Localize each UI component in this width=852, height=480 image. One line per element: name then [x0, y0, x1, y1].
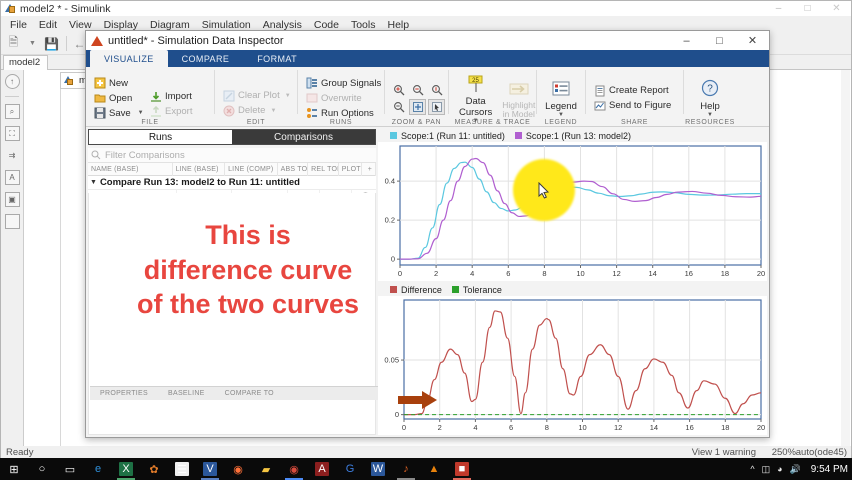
filter-placeholder: Filter Comparisons: [105, 150, 185, 161]
create-report-icon: [594, 85, 606, 97]
excel-icon[interactable]: X: [112, 458, 140, 480]
plot-legend-top: Scope:1 (Run 11: untitled) Scope:1 (Run …: [378, 129, 767, 142]
group-signals-icon: [306, 77, 318, 89]
search-icon: [91, 150, 101, 160]
svg-text:18: 18: [721, 269, 729, 278]
legend-icon: [550, 78, 572, 100]
ribbon-group-label-runs: RUNS: [298, 119, 384, 126]
annotation-text-icon[interactable]: A: [5, 170, 20, 185]
vlc-icon-glyph: ▲: [427, 462, 441, 476]
wifi-icon[interactable]: ◕: [777, 464, 782, 474]
taskbar-clock[interactable]: 9:54 PM: [811, 464, 848, 475]
svg-text:0.4: 0.4: [385, 177, 395, 186]
pan-cursor-icon[interactable]: [428, 99, 445, 115]
ribbon-highlight-in-model-button: Highlightin Model: [497, 78, 540, 119]
edge-icon-glyph: e: [91, 462, 105, 476]
cortana-search-icon[interactable]: ○: [28, 458, 56, 480]
difference-plot-bottom: Difference Tolerance 0246810121416182000…: [378, 283, 767, 435]
sdi-maximize-button[interactable]: □: [703, 31, 736, 50]
column-header-rel-tol[interactable]: REL TOL: [308, 163, 339, 176]
box-icon[interactable]: [5, 214, 20, 229]
app-red-icon-glyph: ■: [455, 462, 469, 476]
save-icon[interactable]: 💾: [43, 35, 60, 52]
excel-icon-glyph: X: [119, 462, 133, 476]
svg-text:4: 4: [470, 269, 474, 278]
firefox-icon[interactable]: ◉: [224, 458, 252, 480]
ribbon-open-label: Open: [109, 93, 132, 104]
firefox-icon-glyph: ◉: [231, 462, 245, 476]
svg-text:6: 6: [506, 269, 510, 278]
adobe-reader-icon[interactable]: A: [308, 458, 336, 480]
column-header-abs-tol[interactable]: ABS TOL: [278, 163, 309, 176]
svg-text:8: 8: [545, 423, 549, 432]
sdi-ribbon-tabs: VISUALIZECOMPAREFORMAT: [86, 50, 769, 67]
legend-color-swatch: [515, 132, 522, 139]
legend-entry-run11[interactable]: Scope:1 (Run 11: untitled): [390, 131, 505, 141]
zoom-out-icon[interactable]: [390, 99, 407, 115]
ribbon-open-button[interactable]: Open: [91, 91, 147, 106]
windows-taskbar: ⊞○▭eX✿☰V◉▰◉AGW♪▲■ ^ ◫ ◕ 🔊 9:54 PM: [0, 458, 852, 480]
simulink-window-controls: – □ ✕: [764, 1, 851, 16]
status-warning-link[interactable]: View 1 warning: [692, 447, 756, 458]
svg-text:18: 18: [721, 423, 729, 432]
zoom-x-icon[interactable]: [409, 82, 426, 98]
toggle-runs[interactable]: Runs: [89, 130, 232, 144]
ribbon-export-label: Export: [165, 106, 192, 117]
overwrite-icon: [306, 92, 318, 104]
export-arrow-icon: [150, 106, 162, 118]
svg-text:6: 6: [509, 423, 513, 432]
ribbon-group-label-measure: MEASURE & TRACE: [449, 119, 536, 126]
google-drive-icon-glyph: G: [343, 462, 357, 476]
area-icon[interactable]: ▣: [5, 192, 20, 207]
navigate-up-icon[interactable]: ↑: [5, 74, 20, 89]
task-view-icon[interactable]: ▭: [56, 458, 84, 480]
word-icon[interactable]: W: [364, 458, 392, 480]
matlab-icon[interactable]: ♪: [392, 458, 420, 480]
toolbar-divider: [66, 36, 67, 51]
svg-text:4: 4: [473, 423, 477, 432]
ribbon-new-button[interactable]: New: [91, 76, 147, 91]
axes-top[interactable]: 0246810121416182000.20.4: [378, 142, 767, 281]
word-icon-glyph: W: [371, 462, 385, 476]
ribbon-data-cursors-button[interactable]: 25 Data Cursors ▼: [454, 73, 497, 124]
legend-color-swatch: [390, 132, 397, 139]
tab-visualize[interactable]: VISUALIZE: [90, 50, 168, 67]
ribbon-group-zoom-pan: ZOOM & PAN: [385, 67, 448, 127]
google-drive-icon[interactable]: G: [336, 458, 364, 480]
start-button[interactable]: ⊞: [0, 458, 28, 480]
ribbon-group-legend: Legend ▼ LEGEND: [537, 67, 585, 127]
tab-compare[interactable]: COMPARE: [168, 50, 244, 67]
simulink-titlebar: model2 * - Simulink – □ ✕: [1, 1, 851, 16]
chevron-down-icon[interactable]: ▼: [138, 110, 144, 116]
menu-item-file[interactable]: File: [4, 18, 33, 32]
edge-icon[interactable]: e: [84, 458, 112, 480]
ribbon-group-signals-label: Group Signals: [321, 78, 381, 89]
maximize-button[interactable]: □: [793, 1, 822, 16]
toggle-comparisons[interactable]: Comparisons: [232, 130, 375, 144]
tab-baseline[interactable]: BASELINE: [158, 390, 215, 397]
system-tray: ^ ◫ ◕ 🔊 9:54 PM: [750, 458, 848, 480]
ribbon-delete-label: Delete: [238, 105, 265, 116]
ribbon-group-label-share: SHARE: [586, 119, 683, 126]
minimize-button[interactable]: –: [764, 1, 793, 16]
svg-text:8: 8: [542, 269, 546, 278]
legend-label-run13: Scope:1 (Run 13: model2): [526, 131, 631, 141]
photoshop-icon-glyph: ✿: [147, 462, 161, 476]
import-arrow-icon: [150, 91, 162, 103]
battery-icon[interactable]: ◫: [762, 464, 771, 475]
simulink-locked-model-icon: [5, 3, 16, 14]
chrome-icon[interactable]: ◉: [280, 458, 308, 480]
comparison-plot-top: Scope:1 (Run 11: untitled) Scope:1 (Run …: [378, 129, 767, 281]
ribbon-data-cursors-label: Data Cursors: [459, 96, 492, 118]
properties-tabstrip: PROPERTIES BASELINE COMPARE TO: [90, 386, 378, 400]
tab-properties[interactable]: PROPERTIES: [90, 390, 158, 397]
legend-entry-difference[interactable]: Difference: [390, 285, 442, 295]
photoshop-icon[interactable]: ✿: [140, 458, 168, 480]
legend-entry-tolerance[interactable]: Tolerance: [452, 285, 502, 295]
legend-color-swatch: [390, 286, 397, 293]
chevron-down-icon: ▼: [270, 108, 276, 114]
ribbon-clear-plot-button: Clear Plot ▼: [220, 88, 292, 103]
ribbon-group-measure-trace: 25 Data Cursors ▼ Highlightin Model MEAS…: [449, 67, 536, 127]
comparison-group-row[interactable]: ▼ Compare Run 13: model2 to Run 11: unti…: [88, 176, 376, 190]
close-button[interactable]: ✕: [822, 1, 851, 16]
volume-icon[interactable]: 🔊: [790, 464, 801, 475]
ribbon-group-runs: Group Signals Overwrite Run Options: [298, 67, 384, 127]
tray-expand-icon[interactable]: ^: [750, 464, 754, 474]
svg-text:0: 0: [398, 269, 402, 278]
delete-icon: [223, 105, 235, 117]
sdi-window-controls: – □ ✕: [670, 31, 769, 50]
fit-to-view-icon[interactable]: [409, 99, 426, 115]
matlab-icon: [91, 35, 103, 47]
ribbon-group-share: Create Report Send to Figure SHARE: [586, 67, 683, 127]
column-header-line-base[interactable]: LINE (BASE): [173, 163, 226, 176]
svg-text:0: 0: [391, 255, 395, 264]
file-explorer-icon-glyph: ▰: [259, 462, 273, 476]
matlab-icon-glyph: ♪: [399, 462, 413, 476]
ribbon-legend-button[interactable]: Legend ▼: [540, 78, 582, 118]
taskbar-items: ⊞○▭eX✿☰V◉▰◉AGW♪▲■: [0, 458, 476, 480]
fit-to-view-icon[interactable]: ⛶: [5, 126, 20, 141]
runs-comparisons-toggle: Runs Comparisons: [88, 129, 376, 145]
plus-icon[interactable]: +: [362, 163, 376, 176]
tab-compare-to[interactable]: COMPARE TO: [215, 390, 284, 397]
zoom-tool-icon[interactable]: ⌕: [5, 104, 20, 119]
comparisons-table-header: NAME (BASE) LINE (BASE) LINE (COMP) ABS …: [88, 163, 376, 176]
status-zoom-level: 250%: [772, 447, 796, 458]
svg-text:10: 10: [576, 269, 584, 278]
ribbon-group-label-edit: EDIT: [215, 119, 297, 126]
sdi-title: untitled* - Simulation Data Inspector: [108, 35, 283, 47]
ribbon-group-label-zoom-pan: ZOOM & PAN: [385, 119, 448, 126]
svg-text:14: 14: [649, 269, 657, 278]
status-solver: auto(ode45): [796, 447, 847, 458]
svg-text:0.2: 0.2: [385, 216, 395, 225]
data-cursor-icon: 25: [465, 73, 487, 95]
model-tab-model2[interactable]: model2: [3, 55, 48, 70]
ribbon-clear-plot-label: Clear Plot: [238, 90, 280, 101]
ribbon-group-edit: Clear Plot ▼ Delete ▼ EDIT: [215, 67, 297, 127]
new-model-icon[interactable]: 🗎: [5, 35, 22, 52]
sdi-ribbon: New Open Save ▼: [86, 67, 769, 127]
axes-bottom[interactable]: 0246810121416182000.05: [378, 296, 767, 435]
save-disk-icon: [94, 107, 106, 119]
simulink-left-toolrail: ↑ ⌕ ⛶ ⇉ A ▣: [1, 70, 23, 446]
legend-color-swatch: [452, 286, 459, 293]
chevron-down-icon: ▼: [285, 93, 291, 99]
ribbon-group-resources: ? Help ▼ RESOURCES: [684, 67, 736, 127]
svg-text:16: 16: [685, 423, 693, 432]
ribbon-group-label-resources: RESOURCES: [684, 119, 736, 126]
new-plus-icon: [94, 77, 106, 89]
svg-text:16: 16: [685, 269, 693, 278]
cortana-search-icon-glyph: ○: [35, 462, 49, 476]
ribbon-group-label-file: FILE: [86, 119, 214, 126]
ribbon-create-report-label: Create Report: [609, 85, 669, 96]
ribbon-save-label: Save: [109, 108, 131, 119]
ribbon-overwrite-button: Overwrite: [303, 91, 379, 106]
legend-entry-run13[interactable]: Scope:1 (Run 13: model2): [515, 131, 631, 141]
simulink-title: model2 * - Simulink: [20, 3, 110, 15]
ribbon-send-to-figure-button[interactable]: Send to Figure: [591, 98, 678, 113]
highlight-in-model-icon: [508, 78, 530, 100]
visio-icon-glyph: V: [203, 462, 217, 476]
svg-text:2: 2: [434, 269, 438, 278]
start-button-glyph: ⊞: [7, 462, 21, 476]
svg-text:12: 12: [612, 269, 620, 278]
task-view-icon-glyph: ▭: [63, 462, 77, 476]
ribbon-group-label-legend: LEGEND: [537, 119, 585, 126]
run-options-icon: [306, 107, 318, 119]
sdi-minimize-button[interactable]: –: [670, 31, 703, 50]
ribbon-import-button[interactable]: Import: [147, 89, 209, 104]
sdi-body: Runs Comparisons Filter Comparisons NAME…: [86, 127, 769, 437]
legend-label-run11: Scope:1 (Run 11: untitled): [401, 131, 505, 141]
ribbon-help-label: Help: [700, 101, 720, 112]
signal-routing-icon[interactable]: ⇉: [5, 148, 20, 163]
svg-text:0.05: 0.05: [384, 356, 399, 365]
ribbon-legend-label: Legend: [545, 101, 577, 112]
chevron-down-icon[interactable]: ▼: [558, 112, 564, 118]
ribbon-delete-button: Delete ▼: [220, 103, 292, 118]
svg-text:?: ?: [707, 84, 713, 95]
folder-open-icon: [94, 92, 106, 104]
chrome-icon-glyph: ◉: [287, 462, 301, 476]
status-ready: Ready: [6, 447, 33, 458]
notepad-icon-glyph: ☰: [175, 462, 189, 476]
clear-plot-icon: [223, 90, 235, 102]
chevron-down-icon[interactable]: ▼: [90, 179, 97, 186]
sdi-close-button[interactable]: ✕: [736, 31, 769, 50]
rail-divider: [5, 96, 19, 97]
canvas-splitter: [60, 89, 61, 446]
plot-legend-bottom: Difference Tolerance: [378, 283, 767, 296]
ribbon-help-button[interactable]: ? Help ▼: [694, 78, 726, 118]
svg-text:20: 20: [757, 423, 765, 432]
ribbon-group-signals-button[interactable]: Group Signals: [303, 76, 379, 91]
svg-text:2: 2: [438, 423, 442, 432]
tab-format[interactable]: FORMAT: [243, 50, 311, 67]
file-explorer-icon[interactable]: ▰: [252, 458, 280, 480]
adobe-reader-icon-glyph: A: [315, 462, 329, 476]
vlc-icon[interactable]: ▲: [420, 458, 448, 480]
sdi-titlebar: untitled* - Simulation Data Inspector – …: [86, 31, 769, 50]
axes-top-svg: 0246810121416182000.20.4: [378, 142, 767, 281]
column-header-plot[interactable]: PLOT: [339, 163, 362, 176]
ribbon-overwrite-label: Overwrite: [321, 93, 362, 104]
svg-text:0: 0: [402, 423, 406, 432]
canvas-vertical-scrollbar[interactable]: [841, 70, 850, 446]
svg-text:12: 12: [614, 423, 622, 432]
zoom-y-icon[interactable]: [428, 82, 445, 98]
column-header-name-base[interactable]: NAME (BASE): [88, 163, 173, 176]
svg-text:14: 14: [650, 423, 658, 432]
svg-text:0: 0: [395, 410, 399, 419]
comparisons-panel: Runs Comparisons Filter Comparisons NAME…: [88, 129, 376, 435]
model-icon: [64, 75, 75, 86]
new-model-dropdown-icon[interactable]: ▼: [24, 35, 41, 52]
send-to-figure-icon: [594, 100, 606, 112]
app-red-icon[interactable]: ■: [448, 458, 476, 480]
ribbon-send-to-figure-label: Send to Figure: [609, 100, 671, 111]
ribbon-create-report-button[interactable]: Create Report: [591, 83, 678, 98]
chevron-down-icon[interactable]: ▼: [707, 112, 713, 118]
menu-item-edit[interactable]: Edit: [33, 18, 63, 32]
ribbon-run-options-label: Run Options: [321, 108, 374, 119]
svg-text:10: 10: [578, 423, 586, 432]
ribbon-import-label: Import: [165, 91, 192, 102]
ribbon-new-label: New: [109, 78, 128, 89]
legend-label-difference: Difference: [401, 285, 442, 295]
plot-area: Scope:1 (Run 11: untitled) Scope:1 (Run …: [378, 129, 767, 435]
notepad-icon[interactable]: ☰: [168, 458, 196, 480]
ribbon-group-file: New Open Save ▼: [86, 67, 214, 127]
legend-label-tolerance: Tolerance: [463, 285, 502, 295]
visio-icon[interactable]: V: [196, 458, 224, 480]
filter-comparisons-input[interactable]: Filter Comparisons: [88, 148, 376, 163]
comparison-group-label: Compare Run 13: model2 to Run 11: untitl…: [100, 177, 300, 188]
help-question-icon: ?: [699, 78, 721, 100]
column-header-line-comp[interactable]: LINE (COMP): [225, 163, 278, 176]
simulation-data-inspector-window: untitled* - Simulation Data Inspector – …: [85, 30, 770, 438]
svg-text:20: 20: [757, 269, 765, 278]
zoom-in-icon[interactable]: [390, 82, 407, 98]
ribbon-export-button: Export: [147, 104, 209, 119]
axes-bottom-svg: 0246810121416182000.05: [378, 296, 767, 435]
